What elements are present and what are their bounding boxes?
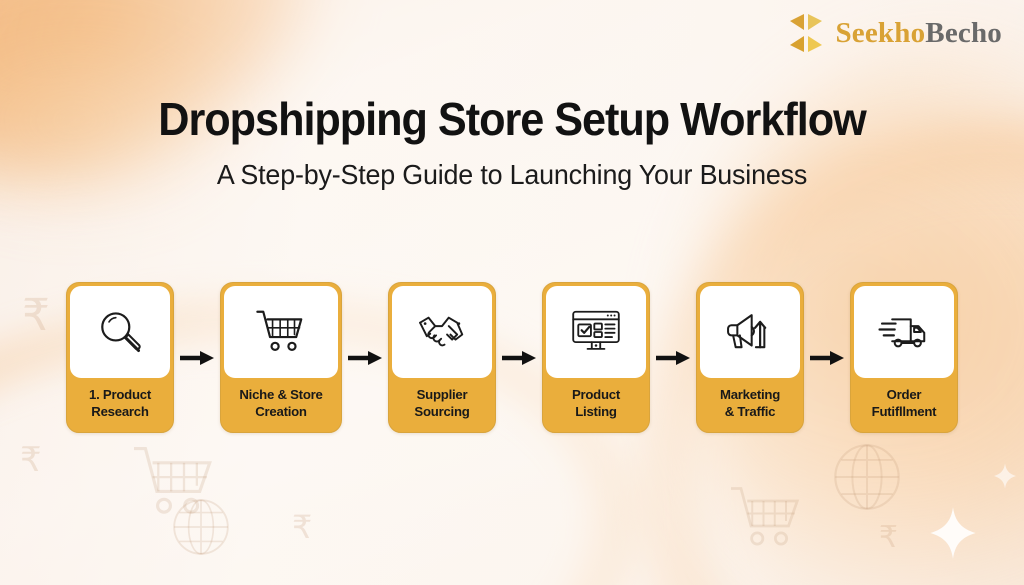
step-card-niche-store-creation[interactable]: Niche & Store Creation <box>220 282 342 433</box>
monitor-listing-icon <box>569 305 623 359</box>
infographic-canvas: ₹ ₹ ₹ ₹ SeekhoBecho <box>0 0 1024 585</box>
page-subtitle: A Step-by-Step Guide to Launching Your B… <box>20 159 1003 191</box>
page-title: Dropshipping Store Setup Workflow <box>31 96 994 142</box>
step-card-product-listing[interactable]: Product Listing <box>542 282 650 433</box>
brand-logo: SeekhoBecho <box>783 10 1002 56</box>
brand-wordmark: SeekhoBecho <box>835 17 1002 50</box>
step-card-order-fulfillment[interactable]: Order Futifllment <box>850 282 958 433</box>
step-card-supplier-sourcing[interactable]: Supplier Sourcing <box>388 282 496 433</box>
megaphone-growth-icon <box>723 305 777 359</box>
step-icon-container <box>70 286 170 378</box>
step-label: Supplier Sourcing <box>389 378 495 432</box>
step-icon-container <box>854 286 954 378</box>
arrow-right-icon <box>502 350 536 366</box>
handshake-icon <box>415 305 469 359</box>
sparkle-icon <box>994 463 1016 489</box>
step-card-marketing-traffic[interactable]: Marketing & Traffic <box>696 282 804 433</box>
step-label: Marketing & Traffic <box>697 378 803 432</box>
pinwheel-icon <box>783 10 829 56</box>
workflow-steps: 1. Product Research Niche & Store Creati… <box>0 282 1024 433</box>
flow-connector <box>650 282 696 366</box>
step-card-product-research[interactable]: 1. Product Research <box>66 282 174 433</box>
flow-connector <box>496 282 542 366</box>
brand-name-second: Becho <box>925 17 1002 49</box>
step-icon-container <box>224 286 338 378</box>
step-icon-container <box>700 286 800 378</box>
step-label: Niche & Store Creation <box>221 378 341 432</box>
brand-name-first: Seekho <box>835 17 925 49</box>
step-label: 1. Product Research <box>67 378 173 432</box>
sparkle-icon <box>930 507 976 559</box>
step-label: Product Listing <box>543 378 649 432</box>
step-icon-container <box>392 286 492 378</box>
flow-connector <box>804 282 850 366</box>
flow-connector <box>174 282 220 366</box>
arrow-right-icon <box>656 350 690 366</box>
arrow-right-icon <box>180 350 214 366</box>
shopping-cart-icon <box>254 305 308 359</box>
magnifier-icon <box>93 305 147 359</box>
delivery-truck-icon <box>877 305 931 359</box>
flow-connector <box>342 282 388 366</box>
step-icon-container <box>546 286 646 378</box>
arrow-right-icon <box>348 350 382 366</box>
arrow-right-icon <box>810 350 844 366</box>
step-label: Order Futifllment <box>851 378 957 432</box>
